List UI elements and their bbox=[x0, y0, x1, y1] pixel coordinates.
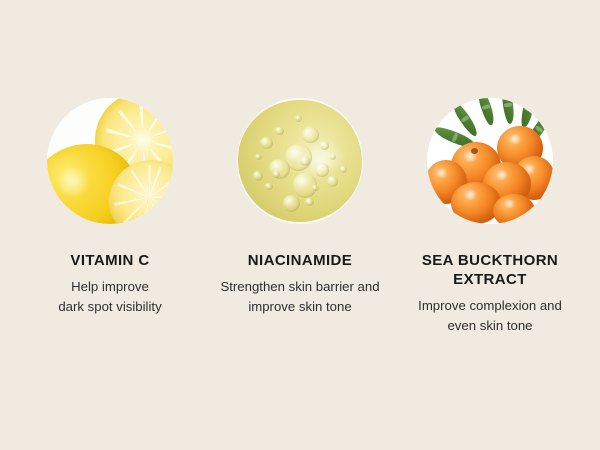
ingredient-description: Strengthen skin barrier and improve skin… bbox=[220, 277, 379, 317]
ingredient-benefits-banner: VITAMIN C Help improve dark spot visibil… bbox=[0, 0, 600, 450]
berry-icon bbox=[493, 194, 535, 224]
serum-blob-icon bbox=[238, 100, 362, 222]
ingredient-description: Improve complexion and even skin tone bbox=[418, 296, 562, 336]
ingredient-card-niacinamide: NIACINAMIDE Strengthen skin barrier and … bbox=[205, 98, 395, 317]
ingredient-columns: VITAMIN C Help improve dark spot visibil… bbox=[0, 98, 600, 336]
ingredient-title: VITAMIN C bbox=[70, 251, 149, 270]
ingredient-card-vitamin-c: VITAMIN C Help improve dark spot visibil… bbox=[15, 98, 205, 317]
ingredient-description: Help improve dark spot visibility bbox=[58, 277, 161, 317]
sea-buckthorn-berries-photo bbox=[427, 98, 553, 224]
serum-droplet-photo bbox=[237, 98, 363, 224]
berry-icon bbox=[451, 182, 501, 224]
ingredient-card-sea-buckthorn-extract: SEA BUCKTHORN EXTRACT Improve complexion… bbox=[395, 98, 585, 336]
lemon-photo bbox=[47, 98, 173, 224]
ingredient-title: NIACINAMIDE bbox=[248, 251, 352, 270]
ingredient-title: SEA BUCKTHORN EXTRACT bbox=[422, 251, 558, 289]
